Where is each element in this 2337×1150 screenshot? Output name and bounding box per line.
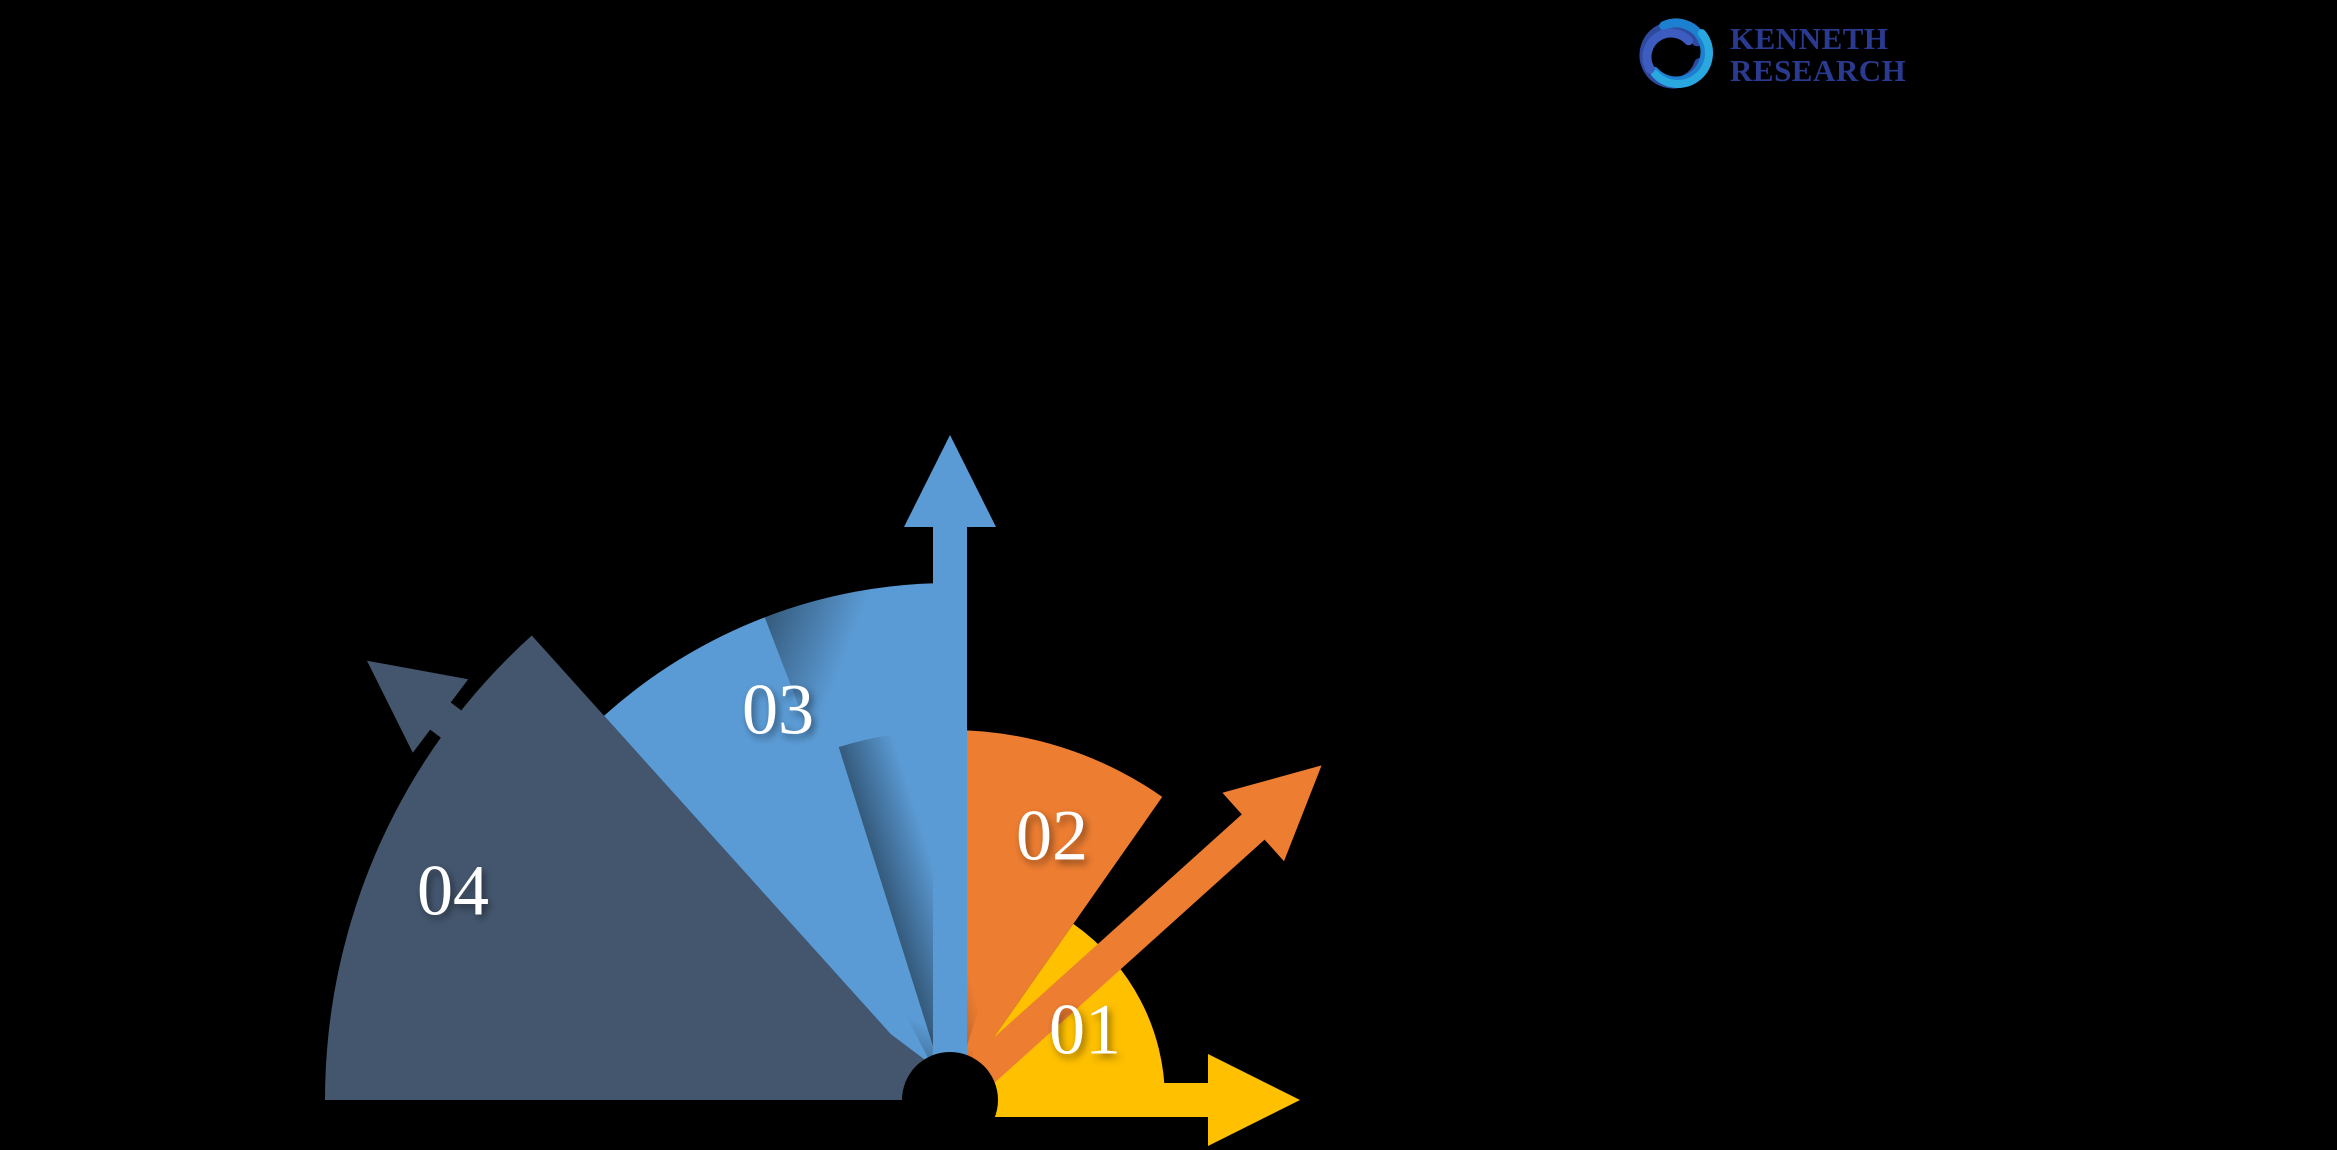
brand-wordmark: KENNETH RESEARCH <box>1730 21 1906 86</box>
hub-circle <box>902 1052 998 1148</box>
segment-label-04: 04 <box>417 851 489 931</box>
segment-label-02: 02 <box>1016 796 1088 876</box>
brand-logo: KENNETH RESEARCH <box>1632 6 1962 102</box>
segment-wedge-layer <box>325 340 1374 1100</box>
radial-fan-diagram: 01020304 <box>0 0 2337 1150</box>
brand-line-1: KENNETH <box>1730 23 1906 55</box>
segment-label-03: 03 <box>742 670 814 750</box>
brand-line-2: RESEARCH <box>1730 55 1906 87</box>
fan-diagram-canvas: 01020304 <box>0 0 2337 1150</box>
kenneth-research-swirl-icon <box>1632 12 1716 96</box>
swirl-icon-graphic <box>1632 12 1716 96</box>
center-hub <box>902 1052 998 1148</box>
segment-label-01: 01 <box>1049 990 1121 1070</box>
